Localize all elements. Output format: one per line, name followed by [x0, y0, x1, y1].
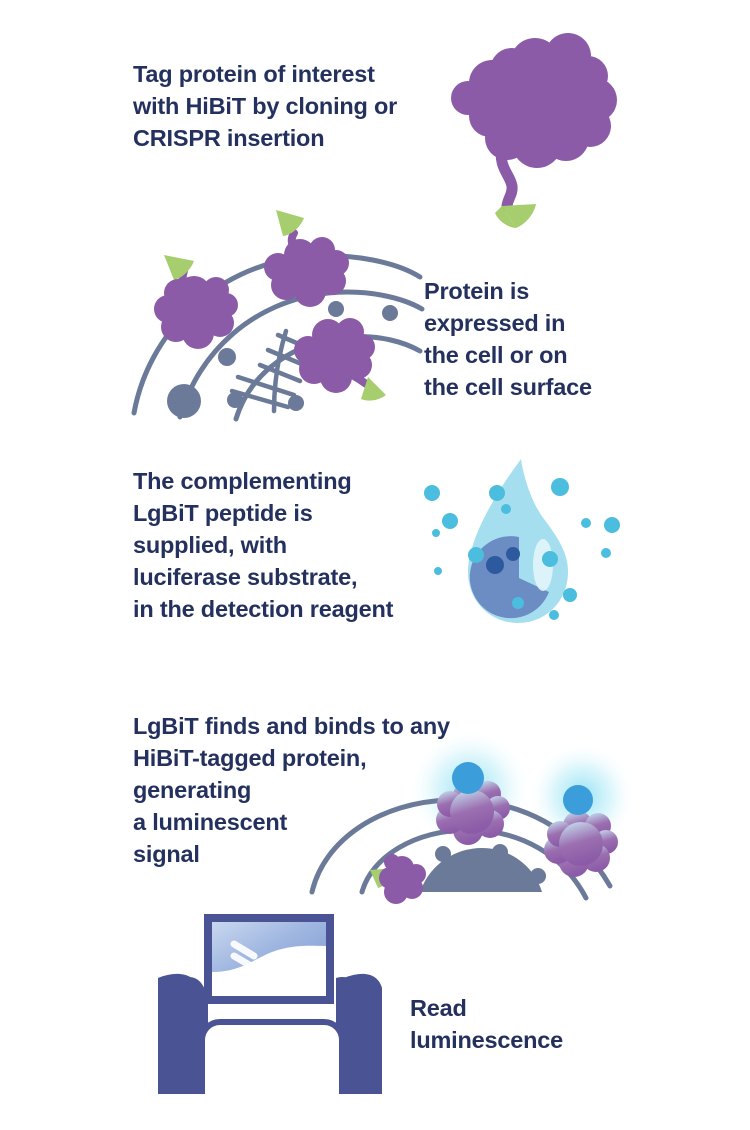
cell-expression-illustration: [128, 205, 418, 420]
caption-expression: Protein is expressed in the cell or on t…: [424, 275, 654, 403]
caption-complementation: LgBiT finds and binds to any HiBiT-tagge…: [133, 710, 483, 870]
tagged-protein-blob: [154, 255, 238, 349]
caption-reagent: The complementing LgBiT peptide is suppl…: [133, 465, 473, 625]
infographic-canvas: Tag protein of interest with HiBiT by cl…: [0, 0, 750, 1130]
protein-blob: [451, 33, 617, 168]
instrument-screen: [208, 918, 330, 1000]
caption-tagging: Tag protein of interest with HiBiT by cl…: [133, 58, 463, 154]
luminometer-illustration: [148, 908, 388, 1098]
hibit-tagged-protein-illustration: [440, 28, 640, 233]
caption-read: Read luminescence: [410, 992, 630, 1056]
tagged-protein-blob: [264, 210, 349, 307]
instrument-drawer: [202, 1022, 342, 1094]
hibit-tag-wedge: [495, 204, 536, 228]
tagged-protein-blob: [294, 318, 386, 401]
lgbit-sphere: [563, 785, 593, 815]
